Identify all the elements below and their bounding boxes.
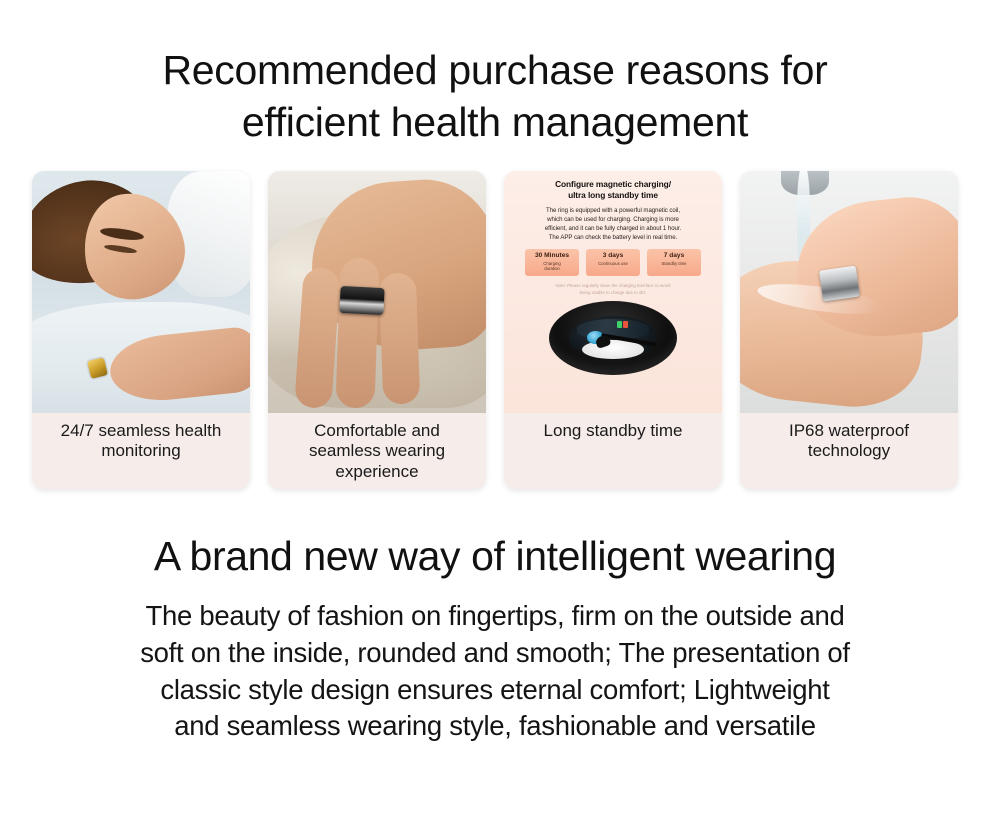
feature-card-comfortable-wearing[interactable]: Comfortable and seamless wearing experie… — [268, 171, 486, 489]
spec-badge-row: 30 Minutes Charging duration 3 days Cont… — [525, 249, 701, 276]
caption-line-3: experience — [335, 462, 418, 481]
caption-line-2: monitoring — [101, 441, 180, 460]
spec-badge-value: 30 Minutes — [527, 252, 577, 260]
section-title: A brand new way of intelligent wearing — [0, 489, 990, 580]
infographic-note: Note: Please regularly clean the chargin… — [552, 283, 675, 297]
silver-smart-ring-shape — [819, 265, 860, 301]
feature-card-caption: 24/7 seamless health monitoring — [32, 413, 250, 489]
page-title-line-1: Recommended purchase reasons for — [40, 44, 950, 96]
black-smart-ring-shape — [339, 286, 384, 315]
caption-line-2: technology — [808, 441, 890, 460]
feature-card-caption: Comfortable and seamless wearing experie… — [268, 413, 486, 489]
page-title: Recommended purchase reasons for efficie… — [0, 0, 990, 149]
red-sensor-led-shape — [623, 321, 628, 328]
spec-badge-label-line-1: Charging — [543, 261, 560, 266]
spec-badge-charging-duration: 30 Minutes Charging duration — [525, 249, 579, 276]
feature-card-caption: IP68 waterproof technology — [740, 413, 958, 489]
caption-line-1: IP68 waterproof — [789, 421, 909, 440]
infographic-body-line-1: The ring is equipped with a powerful mag… — [546, 207, 680, 214]
spec-badge-label: Standby time — [649, 261, 699, 266]
spec-badge-label: Charging duration — [527, 261, 577, 272]
infographic-body-line-2: which can be used for charging. Charging… — [547, 216, 679, 223]
infographic-title: Configure magnetic charging/ ultra long … — [555, 179, 671, 202]
section-description: The beauty of fashion on fingertips, fir… — [0, 580, 990, 745]
infographic-note-line-2: being unable to charge due to dirt. — [580, 290, 647, 295]
product-feature-page: Recommended purchase reasons for efficie… — [0, 0, 990, 814]
feature-card-long-standby[interactable]: Configure magnetic charging/ ultra long … — [504, 171, 722, 489]
infographic-title-line-1: Configure magnetic charging/ — [555, 179, 671, 189]
description-line-4: and seamless wearing style, fashionable … — [28, 708, 962, 745]
spec-badge-value: 7 days — [649, 252, 699, 260]
feature-card-caption: Long standby time — [504, 413, 722, 489]
page-title-line-2: efficient health management — [40, 96, 950, 148]
infographic-description: The ring is equipped with a powerful mag… — [545, 206, 681, 243]
finger-shape — [335, 257, 379, 408]
caption-line-1: Long standby time — [544, 421, 683, 440]
feature-card-row: 24/7 seamless health monitoring Comforta… — [0, 149, 990, 489]
feature-card-waterproof[interactable]: IP68 waterproof technology — [740, 171, 958, 489]
spec-badge-value: 3 days — [588, 252, 638, 260]
description-line-2: soft on the inside, rounded and smooth; … — [28, 635, 962, 672]
sleeping-man-gold-ring-image — [32, 171, 250, 413]
feature-card-health-monitoring[interactable]: 24/7 seamless health monitoring — [32, 171, 250, 489]
smart-ring-product-photo — [549, 301, 677, 375]
infographic-note-line-1: Note: Please regularly clean the chargin… — [556, 283, 671, 288]
infographic-body-line-4: The APP can check the battery level in r… — [549, 234, 678, 241]
spec-badge-label-line-2: duration — [544, 266, 560, 271]
caption-line-2: seamless wearing — [309, 441, 445, 460]
spec-badge-standby-time: 7 days Standby time — [647, 249, 701, 276]
hands-washing-water-image — [740, 171, 958, 413]
hand-on-rock-black-ring-image — [268, 171, 486, 413]
infographic-body-line-3: efficient, and it can be fully charged i… — [545, 225, 681, 232]
infographic-title-line-2: ultra long standby time — [568, 190, 658, 200]
spec-badge-label: Continuous use — [588, 261, 638, 266]
magnetic-charging-infographic: Configure magnetic charging/ ultra long … — [504, 171, 722, 413]
description-line-3: classic style design ensures eternal com… — [28, 672, 962, 709]
spec-badge-continuous-use: 3 days Continuous use — [586, 249, 640, 276]
finger-shape — [379, 272, 421, 404]
green-sensor-led-shape — [617, 321, 622, 328]
caption-line-1: 24/7 seamless health — [61, 421, 222, 440]
caption-line-1: Comfortable and — [314, 421, 440, 440]
description-line-1: The beauty of fashion on fingertips, fir… — [28, 598, 962, 635]
